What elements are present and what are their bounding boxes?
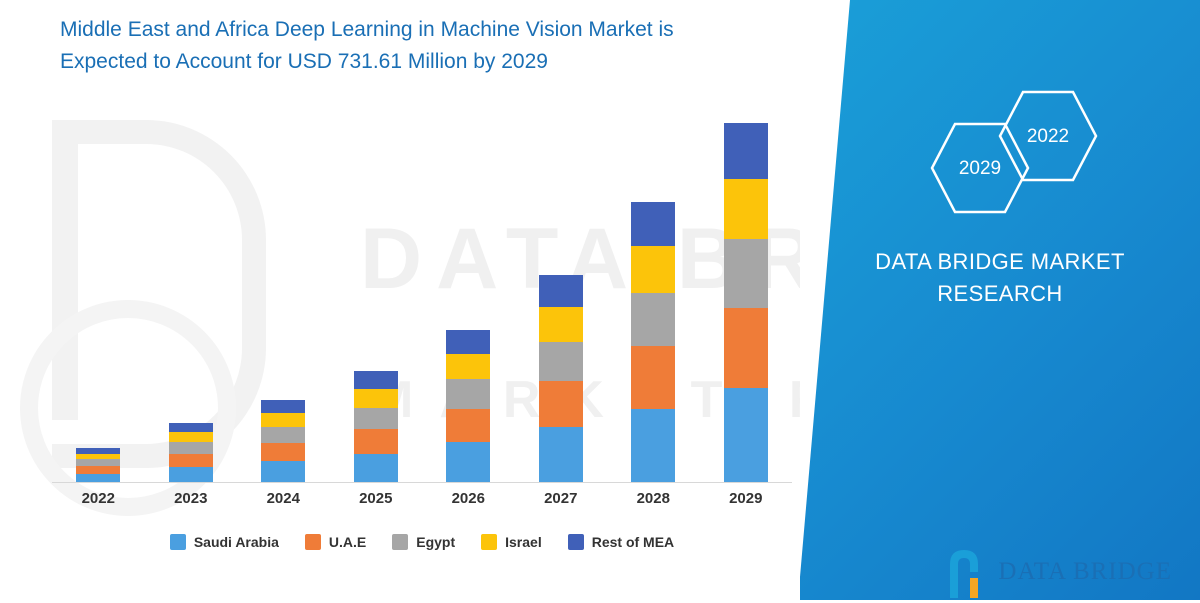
- legend-swatch: [481, 534, 497, 550]
- bar-segment: [169, 454, 213, 467]
- x-axis-label: 2026: [423, 490, 513, 507]
- company-logo: DATA BRIDGE: [944, 548, 1172, 598]
- bar-segment: [169, 432, 213, 442]
- stacked-bar-chart: 20222023202420252026202720282029: [52, 110, 792, 510]
- bar-segment: [446, 442, 490, 482]
- x-axis-label: 2027: [516, 490, 606, 507]
- x-axis-tick-labels: 20222023202420252026202720282029: [52, 490, 792, 518]
- brand-line-2: RESEARCH: [800, 278, 1200, 310]
- x-axis-label: 2023: [146, 490, 236, 507]
- x-axis-label: 2029: [701, 490, 791, 507]
- bar-segment: [354, 371, 398, 389]
- bar-segment: [539, 275, 583, 307]
- bar-segment: [261, 443, 305, 461]
- bar-segment: [539, 342, 583, 382]
- legend-label: U.A.E: [329, 534, 366, 550]
- bar-segment: [631, 409, 675, 482]
- bar-column: [261, 400, 305, 482]
- bar-segment: [261, 461, 305, 482]
- legend-item[interactable]: U.A.E: [305, 534, 366, 550]
- legend-label: Saudi Arabia: [194, 534, 279, 550]
- bar-segment: [76, 459, 120, 466]
- panel-title: in Machine Vision Market, By 2029: [836, 0, 1186, 4]
- chart-plot-area: [52, 110, 792, 482]
- hexagon-label-right: 2022: [998, 126, 1098, 148]
- bar-segment: [169, 442, 213, 453]
- legend-label: Egypt: [416, 534, 455, 550]
- legend-item[interactable]: Egypt: [392, 534, 455, 550]
- bar-segment: [539, 307, 583, 342]
- x-axis-label: 2028: [608, 490, 698, 507]
- bar-segment: [354, 429, 398, 453]
- legend-item[interactable]: Israel: [481, 534, 542, 550]
- bar-segment: [261, 427, 305, 443]
- x-axis-label: 2025: [331, 490, 421, 507]
- legend-item[interactable]: Saudi Arabia: [170, 534, 279, 550]
- bar-column: [539, 275, 583, 482]
- bar-segment: [446, 409, 490, 443]
- bar-column: [446, 330, 490, 482]
- legend-label: Israel: [505, 534, 542, 550]
- bar-column: [724, 123, 768, 482]
- x-axis-line: [52, 482, 792, 483]
- chart-legend: Saudi ArabiaU.A.EEgyptIsraelRest of MEA: [52, 534, 792, 550]
- brand-line-1: DATA BRIDGE MARKET: [800, 246, 1200, 278]
- legend-swatch: [392, 534, 408, 550]
- x-axis-label: 2022: [53, 490, 143, 507]
- bar-segment: [446, 330, 490, 354]
- legend-item[interactable]: Rest of MEA: [568, 534, 674, 550]
- bar-segment: [631, 246, 675, 293]
- bar-segment: [169, 467, 213, 482]
- bar-segment: [724, 308, 768, 388]
- bar-column: [169, 423, 213, 482]
- hexagon-group: 2029 2022: [920, 96, 1170, 216]
- bar-segment: [354, 408, 398, 430]
- hexagon-2022: 2022: [998, 86, 1098, 186]
- bar-segment: [446, 354, 490, 379]
- brand-name: DATA BRIDGE MARKET RESEARCH: [800, 246, 1200, 310]
- bar-column: [76, 448, 120, 482]
- bar-segment: [261, 413, 305, 427]
- bar-segment: [631, 293, 675, 347]
- bar-segment: [539, 381, 583, 427]
- x-axis-label: 2024: [238, 490, 328, 507]
- bar-segment: [539, 427, 583, 482]
- company-logo-text: DATA BRIDGE: [998, 559, 1172, 598]
- bar-segment: [724, 388, 768, 482]
- bar-segment: [446, 379, 490, 408]
- legend-swatch: [568, 534, 584, 550]
- legend-label: Rest of MEA: [592, 534, 674, 550]
- bar-segment: [724, 179, 768, 239]
- bar-segment: [169, 423, 213, 432]
- bar-column: [354, 371, 398, 482]
- bar-column: [631, 202, 675, 482]
- bridge-arch-icon: [944, 548, 988, 598]
- legend-swatch: [305, 534, 321, 550]
- bar-segment: [724, 123, 768, 179]
- bar-segment: [724, 239, 768, 308]
- bar-segment: [76, 466, 120, 474]
- bar-segment: [354, 454, 398, 482]
- brand-panel: in Machine Vision Market, By 2029 2029 2…: [800, 0, 1200, 600]
- legend-swatch: [170, 534, 186, 550]
- bar-segment: [631, 202, 675, 245]
- bar-segment: [354, 389, 398, 408]
- bar-segment: [631, 346, 675, 408]
- bar-segment: [76, 474, 120, 482]
- bar-segment: [261, 400, 305, 413]
- page-title: Middle East and Africa Deep Learning in …: [60, 14, 760, 78]
